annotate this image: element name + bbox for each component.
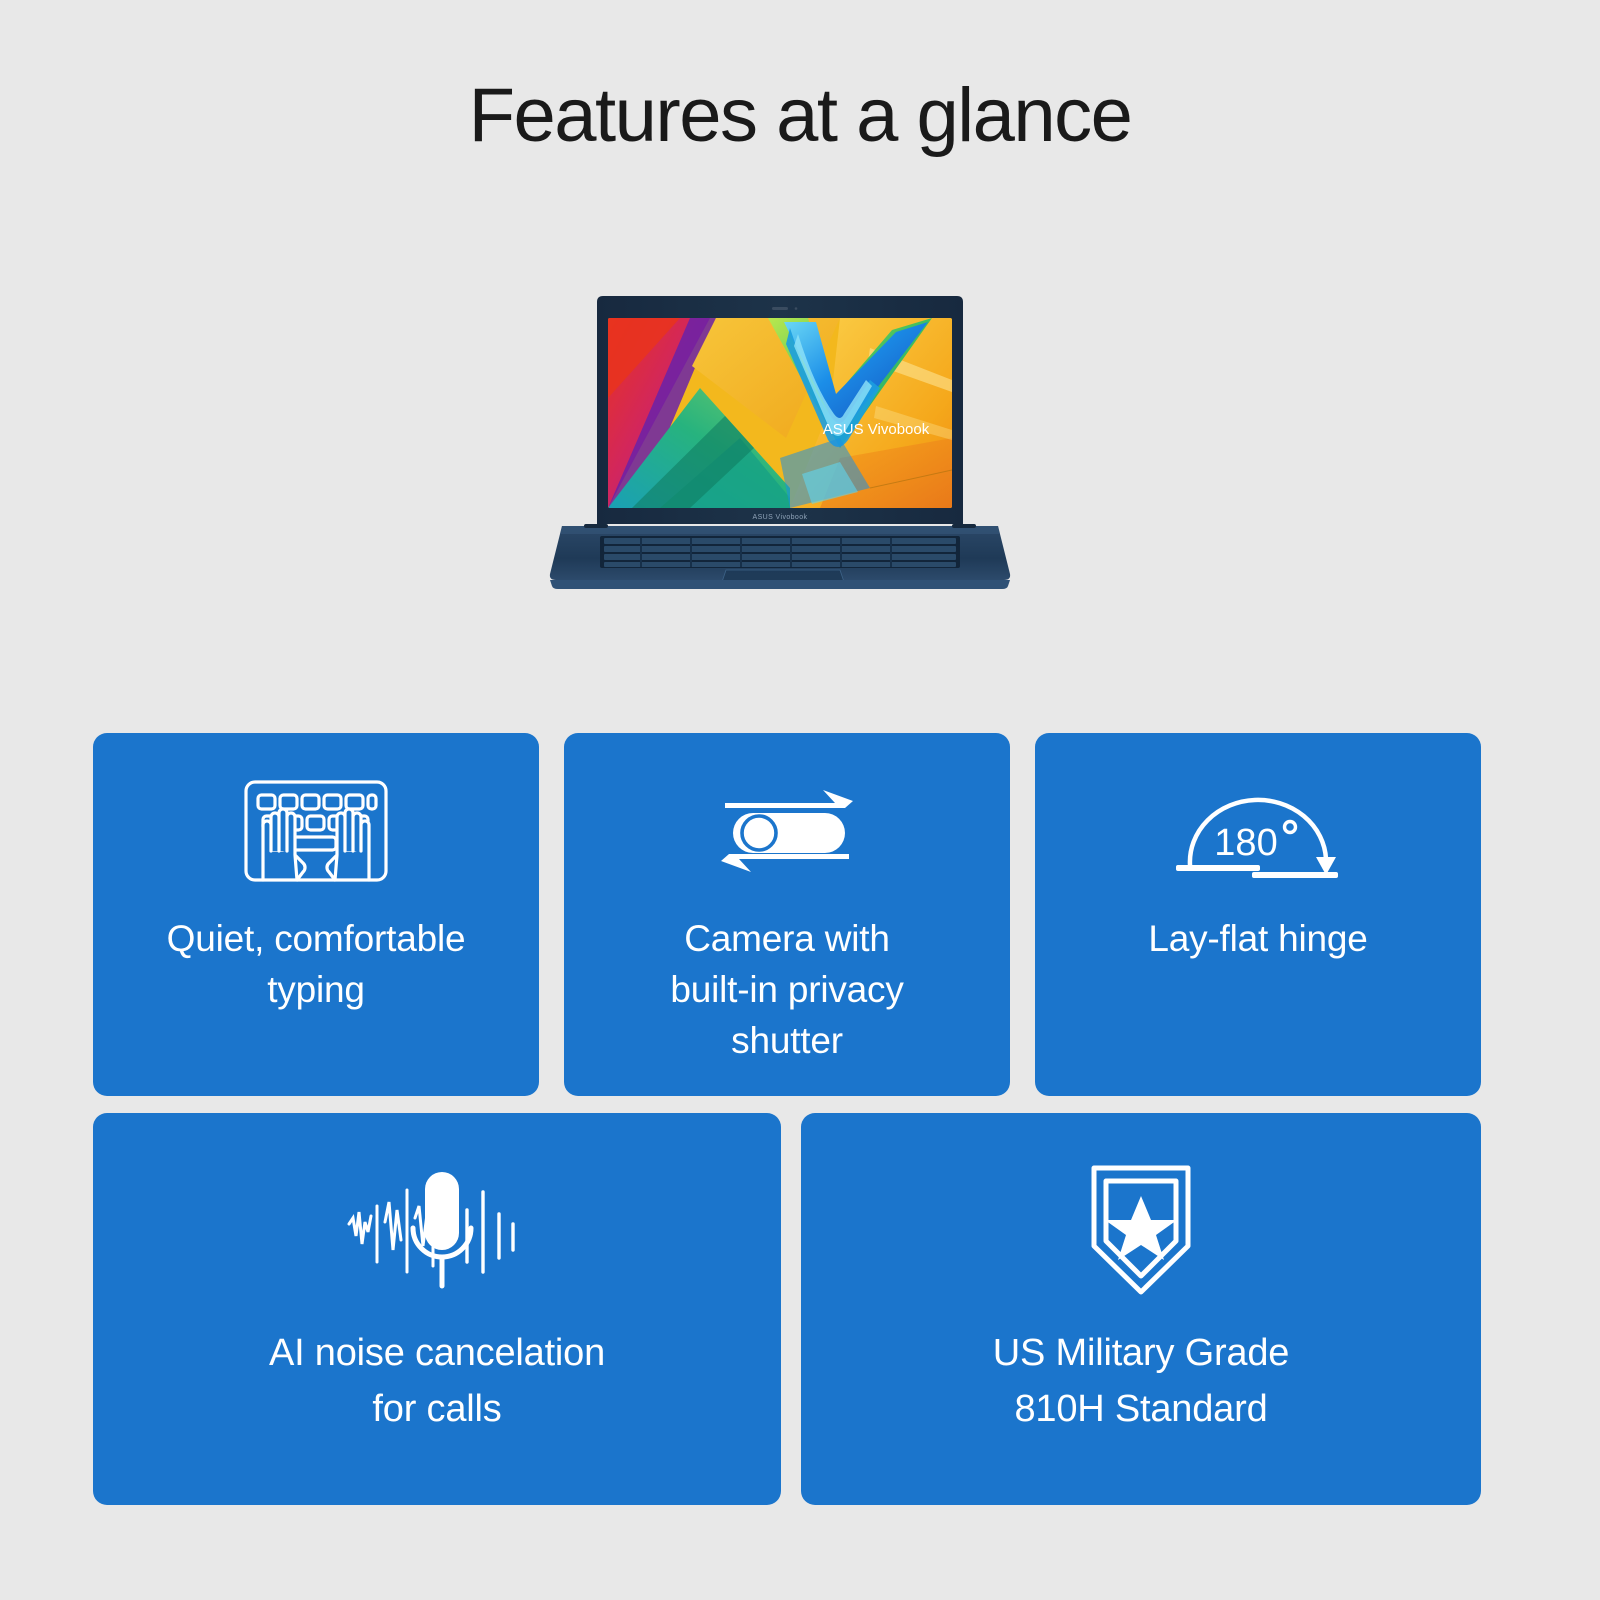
laptop-illustration: ASUS Vivobook ASUS Vivobook (540, 288, 1020, 608)
keyboard-hands-icon (93, 733, 539, 913)
feature-card-quiet-typing[interactable]: Quiet, comfortable typing (93, 733, 539, 1096)
feature-card-lay-flat-hinge[interactable]: 180 Lay-flat hinge (1035, 733, 1481, 1096)
features-at-a-glance-page: Features at a glance (0, 0, 1600, 1600)
feature-card-label: US Military Grade 810H Standard (965, 1325, 1317, 1437)
deck-logo-text: ASUS Vivobook (753, 514, 808, 521)
feature-card-label: Lay-flat hinge (1120, 913, 1395, 964)
feature-card-label: Camera with built-in privacy shutter (642, 913, 931, 1066)
hero-product-image: ASUS Vivobook ASUS Vivobook (540, 288, 1020, 608)
page-title: Features at a glance (0, 72, 1600, 159)
hinge-180-degree-icon: 180 (1035, 733, 1481, 913)
feature-card-label: Quiet, comfortable typing (139, 913, 494, 1015)
camera-privacy-shutter-icon (564, 733, 1010, 913)
feature-card-camera-privacy-shutter[interactable]: Camera with built-in privacy shutter (564, 733, 1010, 1096)
microphone-waveform-icon (93, 1113, 781, 1325)
hinge-angle-value: 180 (1214, 822, 1277, 864)
screen-logo-text: ASUS Vivobook (823, 421, 930, 438)
feature-cards-grid: Quiet, comfortable typing Camera with bu… (93, 721, 1507, 1511)
shield-star-icon (801, 1113, 1481, 1325)
feature-card-us-military-grade[interactable]: US Military Grade 810H Standard (801, 1113, 1481, 1505)
laptop-svg: ASUS Vivobook ASUS Vivobook (540, 288, 1020, 608)
feature-card-ai-noise-cancelation[interactable]: AI noise cancelation for calls (93, 1113, 781, 1505)
feature-card-label: AI noise cancelation for calls (241, 1325, 633, 1437)
